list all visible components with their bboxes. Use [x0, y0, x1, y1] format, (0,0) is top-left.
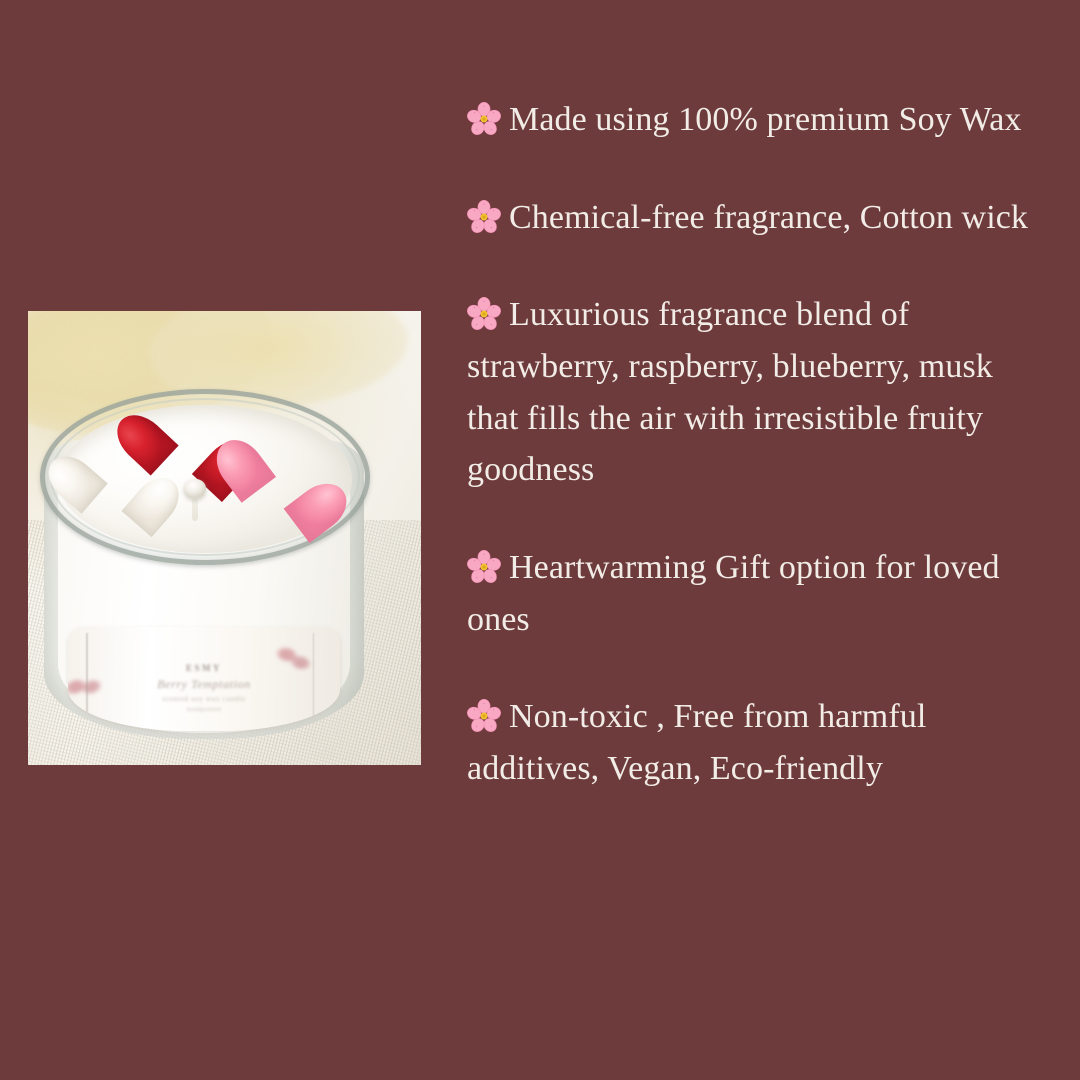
feature-text: Luxurious fragrance blend of strawberry,…	[467, 296, 993, 488]
feature-item: Heartwarming Gift option for loved ones	[467, 542, 1043, 645]
cherry-blossom-icon	[467, 297, 501, 331]
photo-scene: ESMY Berry Temptation scented soy wax ca…	[28, 311, 421, 765]
feature-list: Made using 100% premium Soy Wax	[467, 94, 1043, 795]
feature-text: Non-toxic , Free from harmful additives,…	[467, 698, 926, 787]
cherry-blossom-icon	[467, 699, 501, 733]
feature-item: Made using 100% premium Soy Wax	[467, 94, 1043, 146]
feature-item: Non-toxic , Free from harmful additives,…	[467, 691, 1043, 794]
label-subtitle: scented soy wax candle	[68, 695, 340, 703]
feature-text: Chemical-free fragrance, Cotton wick	[509, 199, 1028, 236]
feature-text: Heartwarming Gift option for loved ones	[467, 549, 1000, 638]
cherry-blossom-icon	[467, 550, 501, 584]
cherry-blossom-icon	[467, 102, 501, 136]
label-product-name: Berry Temptation	[68, 677, 340, 692]
feature-text: Made using 100% premium Soy Wax	[509, 101, 1022, 138]
heart-pink-icon	[239, 445, 334, 528]
feature-item: Luxurious fragrance blend of strawberry,…	[467, 289, 1043, 496]
label-subtitle-secondary: handpoured	[68, 707, 340, 713]
product-photo: ESMY Berry Temptation scented soy wax ca…	[28, 311, 421, 765]
cherry-blossom-icon	[467, 200, 501, 234]
product-label: ESMY Berry Temptation scented soy wax ca…	[68, 627, 340, 731]
candle-jar-icon: ESMY Berry Temptation scented soy wax ca…	[32, 369, 382, 759]
feature-item: Chemical-free fragrance, Cotton wick	[467, 192, 1043, 244]
label-brand-text: ESMY	[68, 663, 340, 673]
infographic-canvas: ESMY Berry Temptation scented soy wax ca…	[0, 0, 1080, 1080]
cotton-wick-icon	[184, 479, 206, 499]
